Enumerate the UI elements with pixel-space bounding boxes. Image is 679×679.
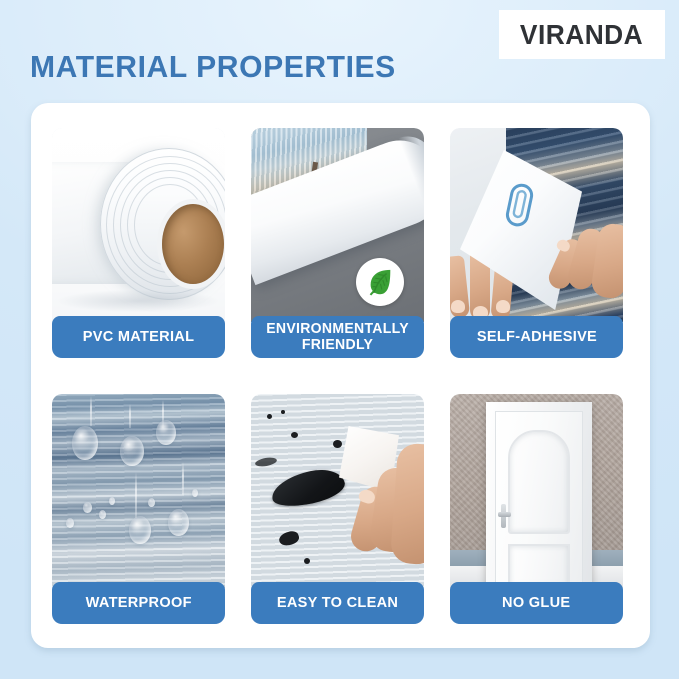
eco-vinyl-photo [251, 128, 424, 322]
feature-card-environmentally-friendly[interactable]: ENVIRONMENTALLY FRIENDLY [251, 128, 424, 358]
card-label-text: PVC MATERIAL [83, 329, 195, 345]
door-handle [498, 512, 511, 517]
brand-name: VIRANDA [520, 19, 643, 51]
right-hand [553, 224, 623, 302]
water-droplet [72, 426, 98, 460]
ink-stain [281, 410, 285, 414]
self-adhesive-photo [450, 128, 623, 322]
card-label-easy-to-clean: EASY TO CLEAN [251, 582, 424, 624]
water-droplet [109, 497, 115, 505]
card-label-text: NO GLUE [502, 595, 570, 611]
pvc-cardboard-core [162, 204, 224, 284]
hand [350, 438, 424, 588]
brand-logo-badge: VIRANDA [499, 10, 665, 59]
water-droplet [120, 436, 144, 466]
leaf-icon [356, 258, 404, 306]
card-label-no-glue: NO GLUE [450, 582, 623, 624]
infographic-root: VIRANDA MATERIAL PROPERTIES PVC M [0, 0, 679, 679]
card-label-text: ENVIRONMENTALLY FRIENDLY [266, 321, 409, 353]
water-droplet [66, 518, 74, 528]
card-label-text: WATERPROOF [85, 595, 191, 611]
pvc-roll-shape [100, 148, 225, 300]
ink-stain [291, 432, 298, 438]
feature-card-waterproof[interactable]: WATERPROOF [52, 394, 225, 624]
water-droplet [148, 498, 155, 507]
card-label-text: SELF-ADHESIVE [476, 329, 596, 345]
card-label-environmentally-friendly: ENVIRONMENTALLY FRIENDLY [251, 316, 424, 358]
door-panel-top [508, 430, 570, 534]
card-label-waterproof: WATERPROOF [52, 582, 225, 624]
no-glue-photo [450, 394, 623, 588]
feature-card-self-adhesive[interactable]: SELF-ADHESIVE [450, 128, 623, 358]
card-label-pvc-material: PVC MATERIAL [52, 316, 225, 358]
water-droplet [129, 516, 151, 544]
feature-card-easy-to-clean[interactable]: EASY TO CLEAN [251, 394, 424, 624]
feature-card-pvc-material[interactable]: PVC MATERIAL [52, 128, 225, 358]
water-droplet [168, 509, 189, 536]
ink-stain [333, 440, 342, 448]
card-label-self-adhesive: SELF-ADHESIVE [450, 316, 623, 358]
pvc-roll-photo [52, 128, 225, 322]
feature-card-no-glue[interactable]: NO GLUE [450, 394, 623, 624]
water-droplet [192, 489, 198, 497]
ink-stain [304, 558, 310, 564]
water-droplet [99, 510, 106, 519]
card-label-text: EASY TO CLEAN [277, 595, 398, 611]
feature-grid: PVC MATERIAL [52, 128, 629, 624]
easy-to-clean-photo [251, 394, 424, 588]
ink-stain [267, 414, 272, 419]
waterproof-photo [52, 394, 225, 588]
water-droplet [83, 502, 92, 513]
water-droplet [156, 420, 176, 445]
page-title: MATERIAL PROPERTIES [30, 49, 396, 85]
